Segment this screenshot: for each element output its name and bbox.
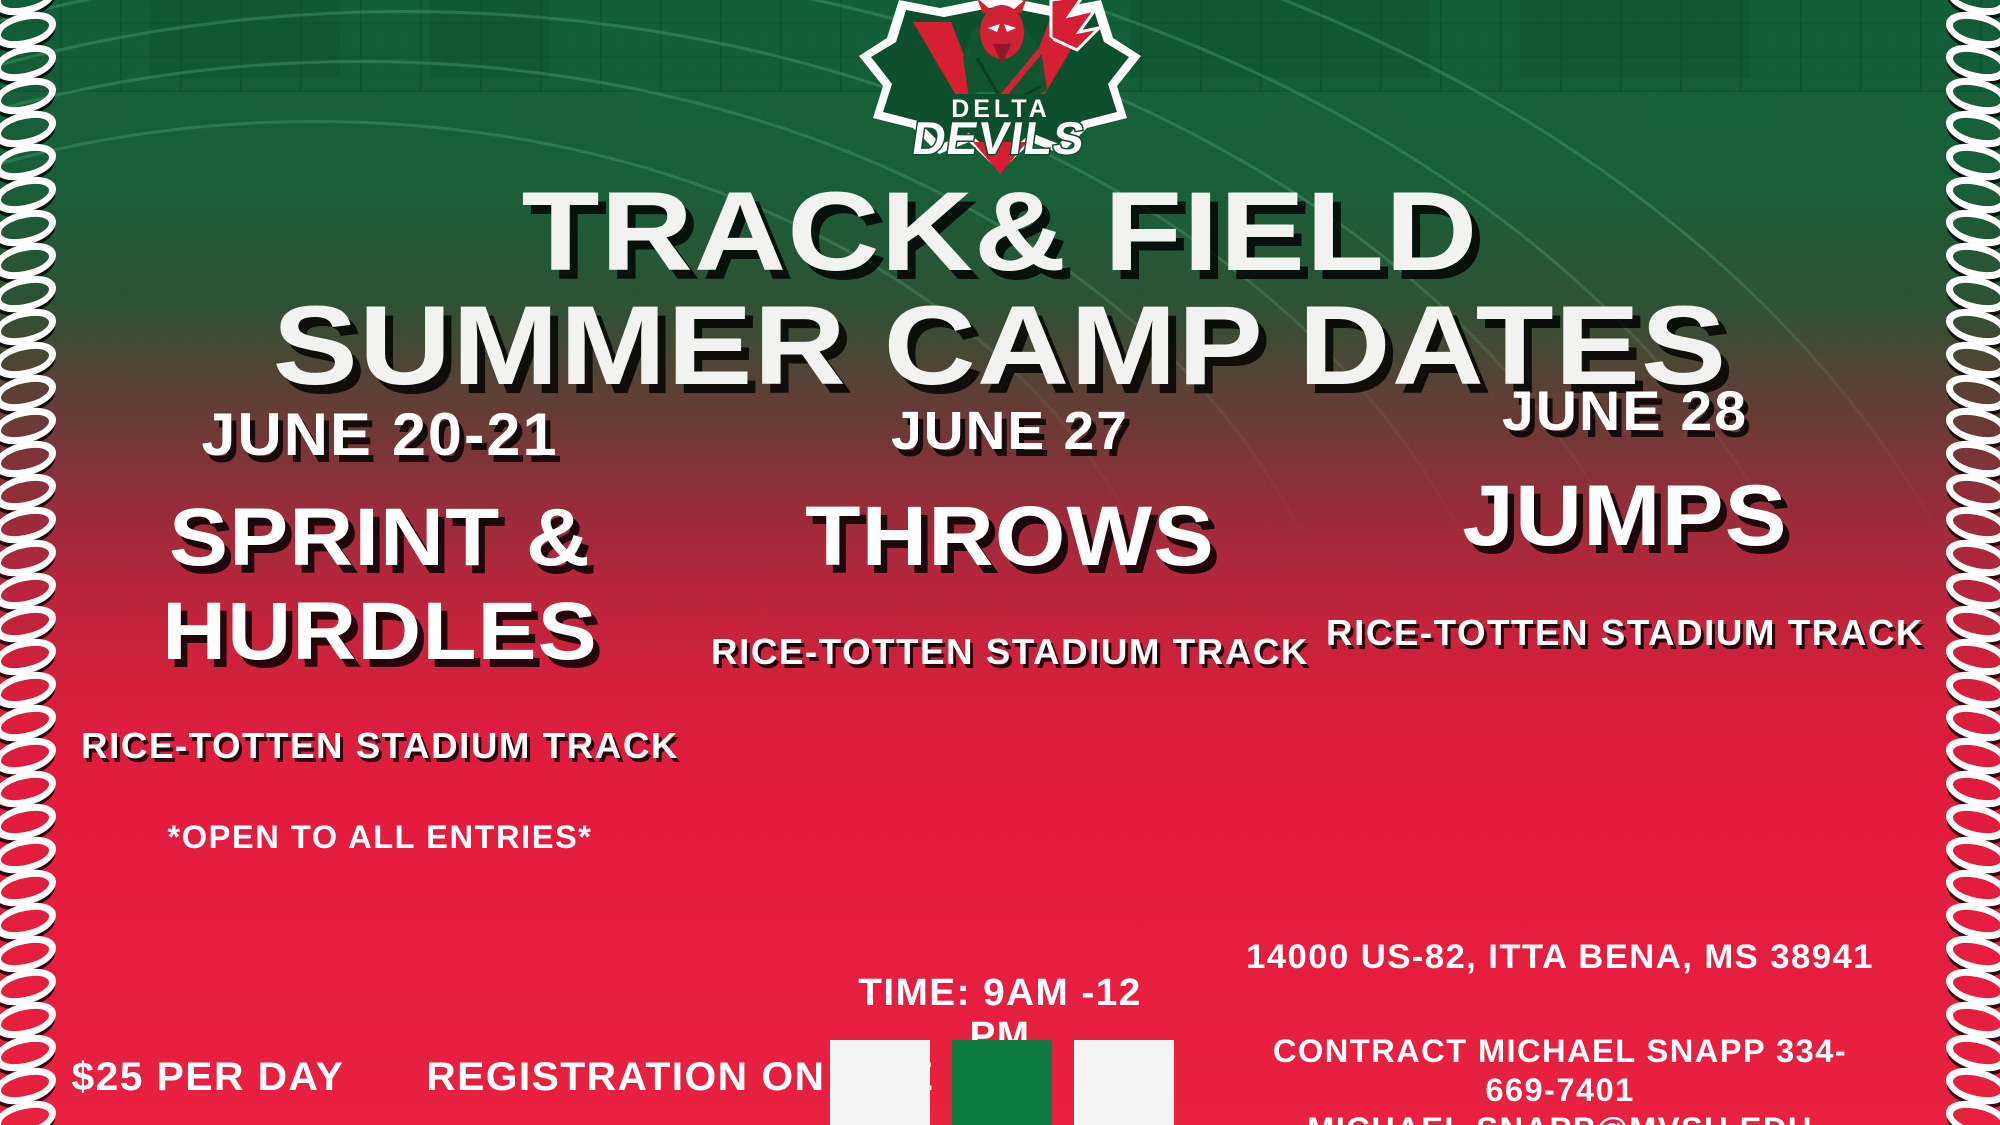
camp-session-2: JUNE 27 THROWS RICE-TOTTEN STADIUM TRACK [700, 400, 1320, 673]
spiral-binding-right [1946, 0, 2000, 1125]
delta-devils-logo: DELTA DEVILS [855, 0, 1145, 174]
track-field-summer-camp-flyer: DELTA DEVILS TRACK& FIELD SUMMER CAMP DA… [0, 0, 2000, 1125]
venue-address: 14000 US-82, ITTA BENA, MS 38941 [1244, 938, 1876, 977]
spiral-binding-left [0, 0, 58, 1125]
price-label: $25 PER DAY [72, 1055, 344, 1099]
session-venue: RICE-TOTTEN STADIUM TRACK [694, 631, 1326, 673]
camp-session-3: JUNE 28 JUMPS RICE-TOTTEN STADIUM TRACK [1260, 378, 1990, 654]
logo-devils-text: DEVILS [909, 112, 1088, 164]
session-date: JUNE 27 [694, 400, 1326, 462]
session-venue: RICE-TOTTEN STADIUM TRACK [1253, 612, 1998, 654]
contact-phone: CONTRACT MICHAEL SNAPP 334-669-7401 [1244, 1032, 1876, 1110]
contact-block: CONTRACT MICHAEL SNAPP 334-669-7401 MICH… [1244, 1032, 1876, 1125]
sponsor-block-green [952, 1040, 1052, 1125]
pricing-row: $25 PER DAY REGISTRATION ON SITE [72, 1055, 935, 1100]
session-event: SPRINT & HURDLES [0, 491, 780, 679]
session-venue: RICE-TOTTEN STADIUM TRACK [3, 725, 758, 767]
session-note: *OPEN TO ALL ENTRIES* [3, 819, 758, 856]
sponsor-blocks [830, 1040, 1180, 1125]
session-date: JUNE 28 [1253, 378, 1998, 443]
sponsor-block-white-left [830, 1040, 930, 1125]
session-event: JUMPS [1231, 467, 2000, 566]
contact-email: MICHAEL.SNAPP@MVSU.EDU [1244, 1110, 1876, 1125]
sponsor-block-white-right [1074, 1040, 1174, 1125]
session-date: JUNE 20-21 [3, 400, 758, 469]
camp-session-1: JUNE 20-21 SPRINT & HURDLES RICE-TOTTEN … [10, 400, 750, 856]
